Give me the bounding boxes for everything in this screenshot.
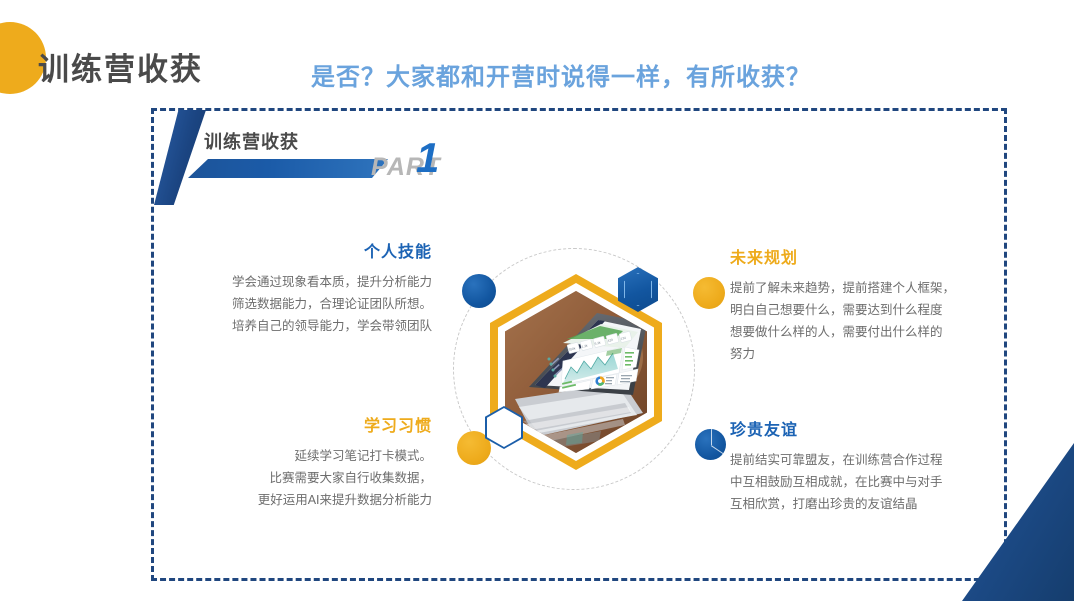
info-block-future-title: 未来规划 <box>730 244 980 268</box>
slide-canvas: 训练营收获 是否？大家都和开营时说得一样，有所收获？ 训练营收获 PART 1 … <box>0 0 1080 601</box>
info-block-future-line-4: 努力 <box>730 343 980 365</box>
info-block-skills-line-3: 培养自己的领导能力，学会带领团队 <box>162 315 432 337</box>
info-block-habits-title: 学习习惯 <box>162 412 432 436</box>
part-header-title: 训练营收获 <box>204 128 299 154</box>
headline-text: 是否？大家都和开营时说得一样，有所收获？ <box>311 57 811 92</box>
info-block-friendship-line-3: 互相欣赏，打磨出珍贵的友谊结晶 <box>730 493 980 515</box>
info-block-future-line-2: 明白自己想要什么，需要达到什么程度 <box>730 299 980 321</box>
decorative-blue-circle <box>462 274 496 308</box>
info-block-habits-line-2: 比赛需要大家自行收集数据， <box>162 467 432 489</box>
part-header: 训练营收获 PART 1 <box>204 128 534 198</box>
decorative-blue-pie-circle <box>695 429 726 460</box>
page-title: 训练营收获 <box>38 44 203 89</box>
decorative-blue-hexagon <box>618 267 658 312</box>
info-block-friendship: 珍贵友谊 提前结实可靠盟友，在训练营合作过程 中互相鼓励互相成就，在比赛中与对手… <box>730 416 980 515</box>
info-block-friendship-title: 珍贵友谊 <box>730 416 980 440</box>
decorative-white-hexagon <box>485 406 523 449</box>
info-block-skills-line-1: 学会通过现象看本质，提升分析能力 <box>162 271 432 293</box>
part-header-bar <box>188 159 388 178</box>
center-graphic: 350k 1.2k 5.2k 420 134 <box>440 248 708 510</box>
info-block-skills-title: 个人技能 <box>162 238 432 262</box>
info-block-friendship-line-1: 提前结实可靠盟友，在训练营合作过程 <box>730 449 980 471</box>
info-block-future-line-1: 提前了解未来趋势，提前搭建个人框架， <box>730 277 980 299</box>
decorative-yellow-circle-right <box>693 277 725 309</box>
info-block-skills: 个人技能 学会通过现象看本质，提升分析能力 筛选数据能力，合理论证团队所想。 培… <box>162 238 432 337</box>
part-number: 1 <box>416 134 439 182</box>
info-block-future-line-3: 想要做什么样的人，需要付出什么样的 <box>730 321 980 343</box>
info-block-friendship-line-2: 中互相鼓励互相成就，在比赛中与对手 <box>730 471 980 493</box>
info-block-habits-line-3: 更好运用AI来提升数据分析能力 <box>162 489 432 511</box>
info-block-future: 未来规划 提前了解未来趋势，提前搭建个人框架， 明白自己想要什么，需要达到什么程… <box>730 244 980 365</box>
info-block-skills-line-2: 筛选数据能力，合理论证团队所想。 <box>162 293 432 315</box>
info-block-habits: 学习习惯 延续学习笔记打卡模式。 比赛需要大家自行收集数据， 更好运用AI来提升… <box>162 412 432 511</box>
info-block-habits-line-1: 延续学习笔记打卡模式。 <box>162 445 432 467</box>
